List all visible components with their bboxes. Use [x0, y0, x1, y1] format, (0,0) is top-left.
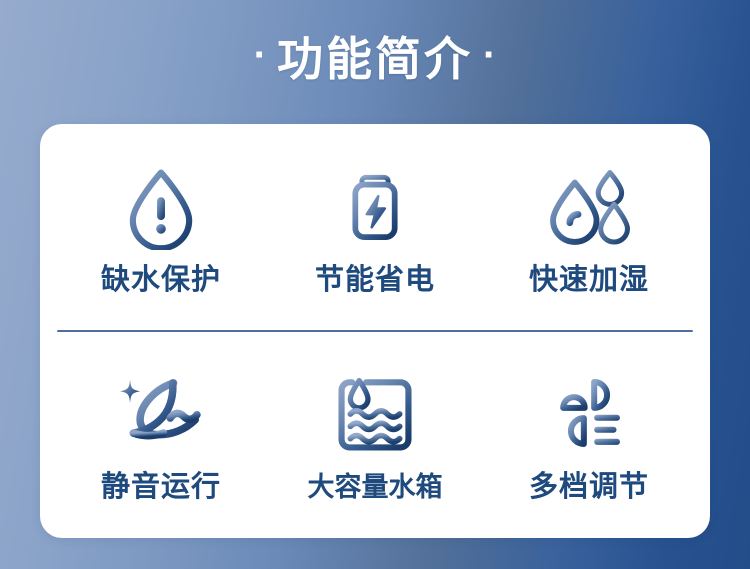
title-text: 功能简介: [277, 36, 473, 82]
feature-item-multi-level-adjustment[interactable]: 多档调节: [489, 367, 689, 502]
feature-label: 节能省电: [315, 266, 435, 295]
feature-item-energy-saving[interactable]: 节能省电: [275, 160, 475, 295]
features-card: 缺水保护 节能省电: [40, 124, 710, 538]
feature-label: 静音运行: [101, 473, 221, 502]
feature-item-fast-humidification[interactable]: 快速加湿: [489, 160, 689, 295]
feature-label: 多档调节: [529, 473, 649, 502]
water-tank-icon: [329, 368, 421, 460]
water-drop-warning-icon: [115, 160, 207, 252]
page-title: · 功能简介 ·: [0, 24, 750, 94]
feature-item-water-shortage-protection[interactable]: 缺水保护: [61, 160, 261, 295]
feature-label: 缺水保护: [101, 266, 221, 295]
water-drops-icon: [543, 160, 635, 252]
feature-item-large-water-tank[interactable]: 大容量水箱: [275, 368, 475, 501]
fan-speed-levels-icon: [543, 367, 635, 459]
moon-sleep-icon: [115, 367, 207, 459]
feature-row-1: 缺水保护 节能省电: [40, 124, 710, 331]
feature-item-silent-operation[interactable]: 静音运行: [61, 367, 261, 502]
title-left-dot: ·: [254, 35, 267, 75]
section-divider: [57, 330, 693, 332]
feature-row-2: 静音运行 大容量水箱: [40, 331, 710, 538]
feature-label: 大容量水箱: [308, 474, 443, 501]
battery-charge-icon: [329, 160, 421, 252]
feature-poster: · 功能简介 · 缺水保护: [0, 0, 750, 569]
feature-label: 快速加湿: [529, 266, 649, 295]
title-right-dot: ·: [483, 35, 496, 75]
